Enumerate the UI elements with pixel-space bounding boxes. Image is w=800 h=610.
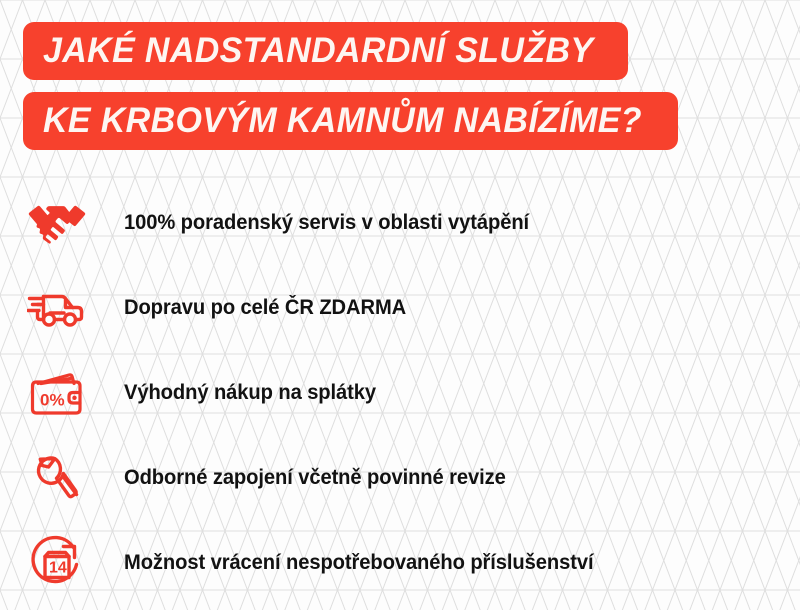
handshake-icon [26, 194, 88, 252]
list-item: 100% poradenský servis v oblasti vytápěn… [0, 180, 800, 265]
wrench-icon [26, 449, 88, 507]
return-icon-text: 14 [49, 559, 67, 576]
feature-label: Výhodný nákup na splátky [124, 380, 376, 406]
headline-banner-line-1: JAKÉ NADSTANDARDNÍ SLUŽBY [23, 22, 628, 80]
headline-banner-line-2: KE KRBOVÝM KAMNŮM NABÍZÍME? [23, 92, 678, 150]
return-14-days-icon: 14 [26, 534, 88, 592]
headline-text-line-2: KE KRBOVÝM KAMNŮM NABÍZÍME? [43, 92, 642, 150]
feature-label: Dopravu po celé ČR ZDARMA [124, 295, 406, 321]
headline-block: JAKÉ NADSTANDARDNÍ SLUŽBY KE KRBOVÝM KAM… [23, 22, 678, 150]
wallet-icon-text: 0% [40, 390, 65, 409]
promo-banner-canvas: JAKÉ NADSTANDARDNÍ SLUŽBY KE KRBOVÝM KAM… [0, 0, 800, 610]
feature-label: 100% poradenský servis v oblasti vytápěn… [124, 210, 529, 236]
feature-label: Odborné zapojení včetně povinné revize [124, 465, 506, 491]
list-item: Dopravu po celé ČR ZDARMA [0, 265, 800, 350]
wallet-zero-percent-icon: 0% [26, 364, 88, 422]
feature-label: Možnost vrácení nespotřebovaného přísluš… [124, 550, 593, 576]
list-item: Odborné zapojení včetně povinné revize [0, 435, 800, 520]
headline-text-line-1: JAKÉ NADSTANDARDNÍ SLUŽBY [43, 22, 593, 80]
delivery-van-icon [26, 279, 88, 337]
wallet-zero-percent-icon-row: 0% Výhodný nákup na splátky [0, 350, 800, 435]
feature-list: 100% poradenský servis v oblasti vytápěn… [0, 180, 800, 605]
return-14-days-icon-row: 14 Možnost vrácení nespotřebovaného přís… [0, 520, 800, 605]
